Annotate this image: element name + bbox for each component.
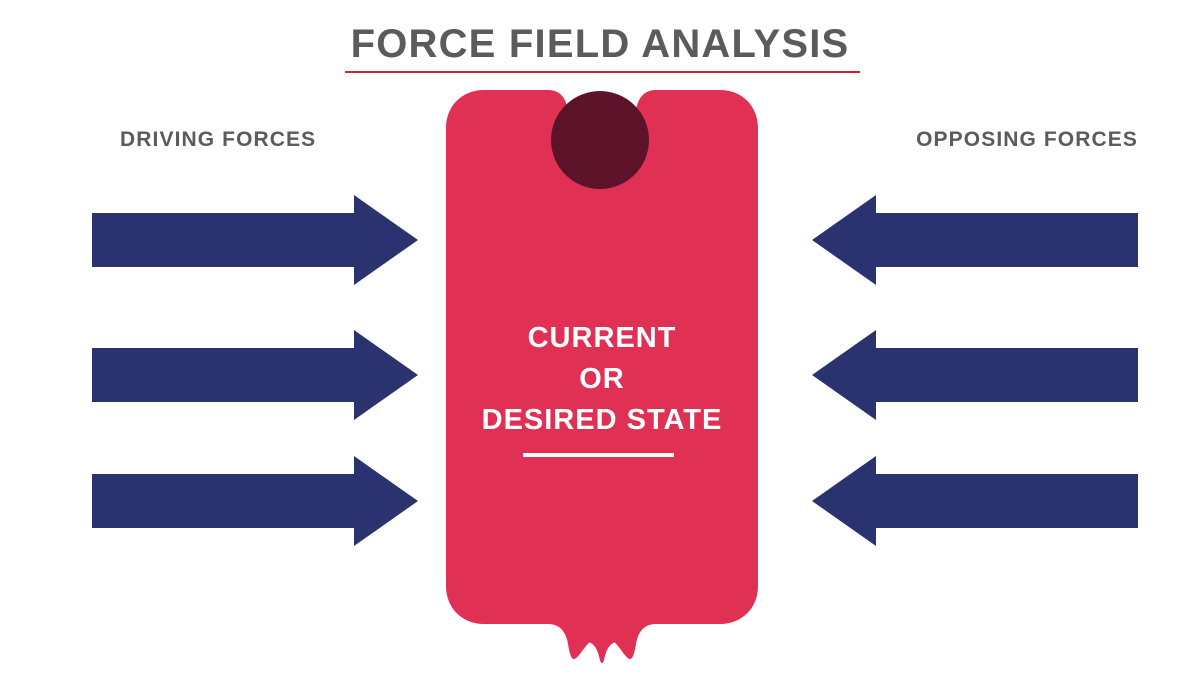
center-line-3: DESIRED STATE (448, 400, 756, 441)
opposing-forces-heading: OPPOSING FORCES (916, 128, 1138, 152)
arrow-left-icon (812, 330, 1138, 420)
arrow-right-icon (92, 456, 418, 546)
state-knob-circle (551, 91, 649, 189)
opposing-force-arrow-1 (812, 195, 1138, 285)
title-underline (345, 71, 860, 73)
page-title: FORCE FIELD ANALYSIS (0, 22, 1200, 67)
driving-force-arrow-1 (92, 195, 418, 285)
center-state-label: CURRENT OR DESIRED STATE (448, 318, 756, 442)
arrow-left-icon (812, 195, 1138, 285)
driving-forces-heading: DRIVING FORCES (120, 128, 316, 152)
opposing-force-arrow-2 (812, 330, 1138, 420)
arrow-left-icon (812, 456, 1138, 546)
arrow-right-icon (92, 195, 418, 285)
force-field-analysis-diagram: FORCE FIELD ANALYSIS DRIVING FORCES OPPO… (0, 0, 1200, 700)
opposing-force-arrow-3 (812, 456, 1138, 546)
driving-force-arrow-3 (92, 456, 418, 546)
center-label-underline (523, 453, 674, 457)
driving-force-arrow-2 (92, 330, 418, 420)
center-line-1: CURRENT (448, 318, 756, 359)
arrow-right-icon (92, 330, 418, 420)
center-line-2: OR (448, 359, 756, 400)
